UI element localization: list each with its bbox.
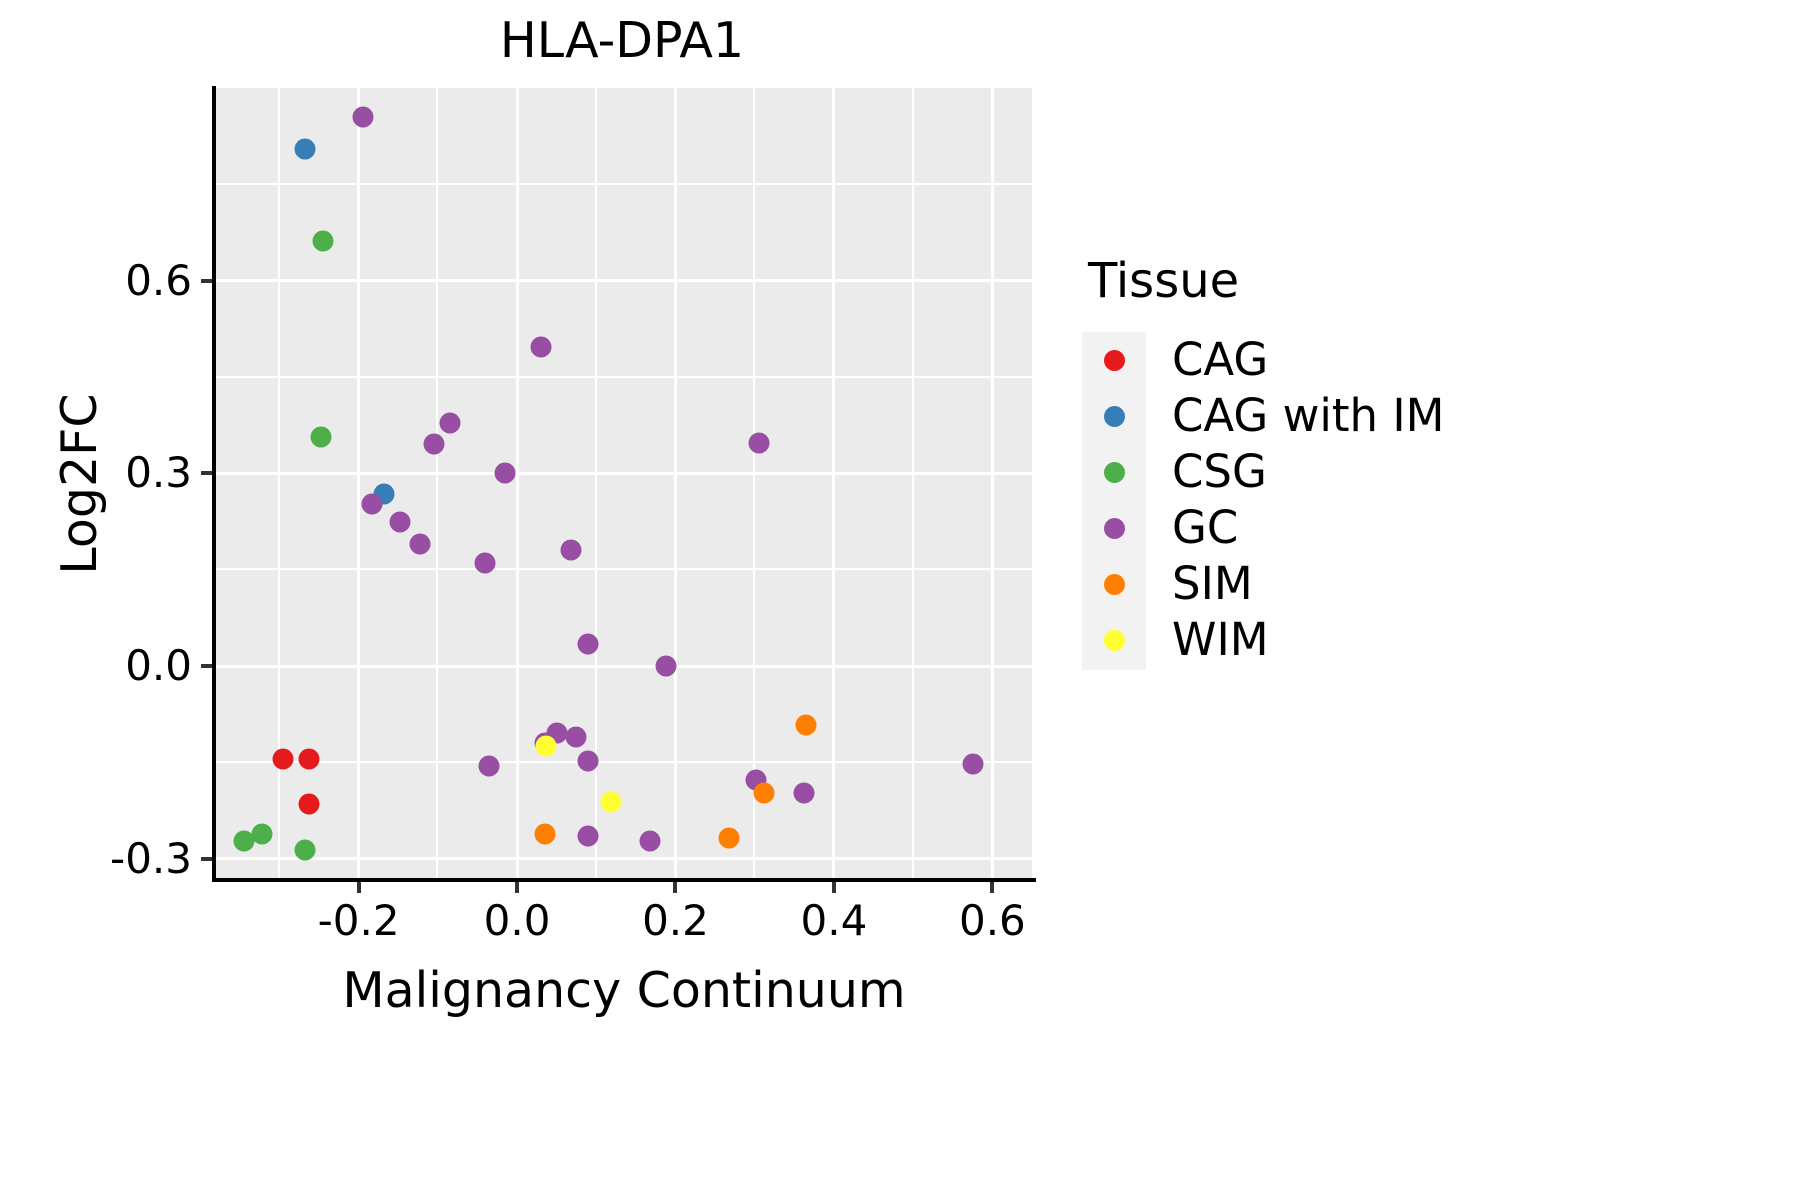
legend-swatch-icon xyxy=(1082,500,1146,556)
data-point xyxy=(578,826,599,847)
grid-line-horizontal xyxy=(216,279,1032,282)
data-point xyxy=(754,783,775,804)
grid-line-vertical xyxy=(991,88,994,878)
legend-items: CAGCAG with IMCSGGCSIMWIM xyxy=(1082,332,1444,668)
legend-item-cag-with-im[interactable]: CAG with IM xyxy=(1082,388,1444,444)
legend-swatch-icon xyxy=(1082,612,1146,668)
y-tick-mark xyxy=(201,664,212,668)
scatter-plot-figure: HLA-DPA1 0.60.30.0-0.3 -0.20.00.20.40.6 … xyxy=(0,0,1800,1200)
data-point xyxy=(534,824,555,845)
data-point xyxy=(530,336,551,357)
legend-item-label: WIM xyxy=(1172,614,1269,666)
data-point xyxy=(578,751,599,772)
grid-line-horizontal xyxy=(216,183,1032,185)
data-point xyxy=(600,792,621,813)
data-point xyxy=(299,794,320,815)
data-point xyxy=(962,753,983,774)
grid-line-vertical xyxy=(753,88,755,878)
legend-item-label: GC xyxy=(1172,502,1238,554)
data-point xyxy=(273,749,294,770)
y-axis-line xyxy=(212,86,216,882)
x-tick-mark xyxy=(673,882,677,893)
x-axis-line xyxy=(212,878,1036,882)
x-tick-label: 0.2 xyxy=(642,900,709,942)
chart-title: HLA-DPA1 xyxy=(212,6,1032,76)
data-point xyxy=(251,824,272,845)
legend-item-label: CSG xyxy=(1172,446,1267,498)
legend-title: Tissue xyxy=(1088,252,1444,310)
y-tick-mark xyxy=(201,471,212,475)
grid-line-horizontal xyxy=(216,857,1032,860)
legend-item-sim[interactable]: SIM xyxy=(1082,556,1444,612)
data-point xyxy=(495,463,516,484)
grid-line-vertical xyxy=(912,88,914,878)
y-tick-mark xyxy=(201,279,212,283)
grid-line-horizontal xyxy=(216,665,1032,668)
legend-swatch-icon xyxy=(1082,556,1146,612)
x-tick-mark xyxy=(515,882,519,893)
legend-item-label: CAG with IM xyxy=(1172,390,1444,442)
data-point xyxy=(796,715,817,736)
grid-line-vertical xyxy=(674,88,677,878)
grid-line-vertical xyxy=(516,88,519,878)
x-tick-label: 0.6 xyxy=(959,900,1026,942)
data-point xyxy=(389,511,410,532)
data-point xyxy=(748,432,769,453)
data-point xyxy=(439,413,460,434)
data-point xyxy=(475,553,496,574)
data-point xyxy=(655,656,676,677)
y-tick-label: -0.3 xyxy=(0,838,192,880)
grid-line-horizontal xyxy=(216,761,1032,763)
grid-line-vertical xyxy=(357,88,360,878)
data-point xyxy=(423,434,444,455)
x-tick-label: 0.4 xyxy=(801,900,868,942)
data-point xyxy=(560,540,581,561)
legend-swatch-icon xyxy=(1082,388,1146,444)
data-point xyxy=(362,494,383,515)
legend-item-label: CAG xyxy=(1172,334,1268,386)
legend-item-gc[interactable]: GC xyxy=(1082,500,1444,556)
data-point xyxy=(578,633,599,654)
data-point xyxy=(410,534,431,555)
legend: Tissue CAGCAG with IMCSGGCSIMWIM xyxy=(1082,252,1444,668)
data-point xyxy=(312,230,333,251)
grid-line-horizontal xyxy=(216,568,1032,570)
grid-line-horizontal xyxy=(216,376,1032,378)
grid-line-vertical xyxy=(832,88,835,878)
x-tick-label: -0.2 xyxy=(318,900,400,942)
x-axis-title: Malignancy Continuum xyxy=(212,962,1036,1020)
data-point xyxy=(640,830,661,851)
data-point xyxy=(479,755,500,776)
data-point xyxy=(793,783,814,804)
plot-panel xyxy=(216,88,1032,878)
grid-line-vertical xyxy=(436,88,438,878)
legend-item-label: SIM xyxy=(1172,558,1253,610)
data-point xyxy=(294,139,315,160)
data-point xyxy=(566,726,587,747)
x-tick-mark xyxy=(357,882,361,893)
legend-item-cag[interactable]: CAG xyxy=(1082,332,1444,388)
legend-swatch-icon xyxy=(1082,444,1146,500)
legend-item-csg[interactable]: CSG xyxy=(1082,444,1444,500)
data-point xyxy=(535,736,556,757)
data-point xyxy=(719,828,740,849)
y-axis-title: Log2FC xyxy=(51,244,109,724)
data-point xyxy=(310,426,331,447)
legend-swatch-icon xyxy=(1082,332,1146,388)
data-point xyxy=(352,106,373,127)
x-tick-label: 0.0 xyxy=(484,900,551,942)
grid-line-horizontal xyxy=(216,472,1032,475)
legend-item-wim[interactable]: WIM xyxy=(1082,612,1444,668)
data-point xyxy=(299,749,320,770)
x-tick-mark xyxy=(832,882,836,893)
y-tick-mark xyxy=(201,857,212,861)
x-tick-mark xyxy=(990,882,994,893)
data-point xyxy=(294,840,315,861)
